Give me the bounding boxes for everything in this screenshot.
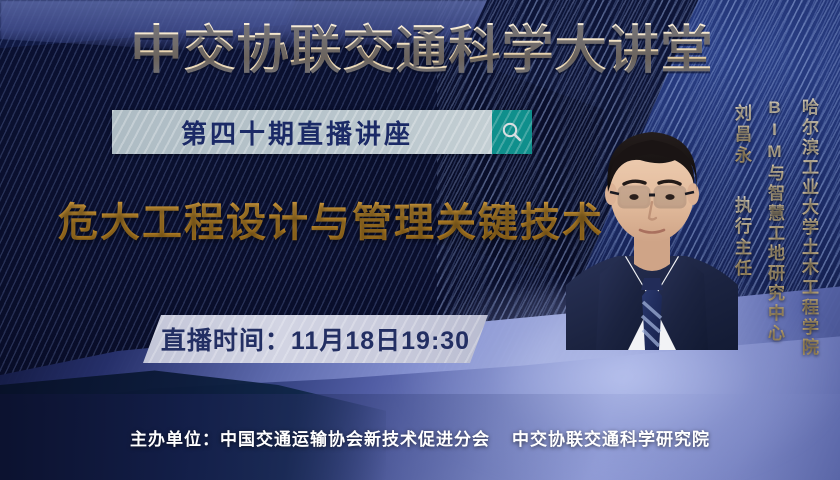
organizer-label-and-first: 主办单位：中国交通运输协会新技术促进分会 bbox=[130, 425, 490, 450]
episode-label: 第四十期直播讲座 bbox=[181, 114, 423, 151]
episode-banner-body: 第四十期直播讲座 bbox=[112, 110, 492, 154]
broadcast-time-text: 直播时间：11月18日19:30 bbox=[161, 321, 470, 357]
episode-banner: 第四十期直播讲座 bbox=[112, 110, 532, 154]
title-area: 中交协联交通科学大讲堂 中交协联交通科学大讲堂 bbox=[0, 0, 840, 90]
organizer-secondary: 中交协联交通科学研究院 bbox=[512, 425, 710, 450]
page-title: 中交协联交通科学大讲堂 bbox=[112, 14, 732, 76]
organizer-footer: 主办单位：中国交通运输协会新技术促进分会 中交协联交通科学研究院 bbox=[0, 425, 840, 450]
speaker-affiliation-line2: BIM与智慧工地研究中心 bbox=[762, 98, 787, 344]
broadcast-time-banner: 直播时间：11月18日19:30 bbox=[143, 315, 488, 363]
organizer-label: 主办单位： bbox=[130, 430, 220, 449]
organizer-primary: 中国交通运输协会新技术促进分会 bbox=[220, 430, 490, 449]
lecture-headline: 危大工程设计与管理关键技术 bbox=[58, 190, 604, 248]
speaker-role: 执行主任 bbox=[729, 196, 754, 280]
search-icon[interactable] bbox=[492, 110, 532, 154]
live-lecture-poster: 中交协联交通科学大讲堂 中交协联交通科学大讲堂 第四十期直播讲座 危大工程设计与… bbox=[0, 0, 840, 480]
speaker-portrait bbox=[566, 88, 738, 350]
speaker-affiliation-line1: 哈尔滨工业大学土木工程学院 bbox=[796, 98, 821, 358]
speaker-name: 刘昌永 bbox=[729, 104, 754, 167]
